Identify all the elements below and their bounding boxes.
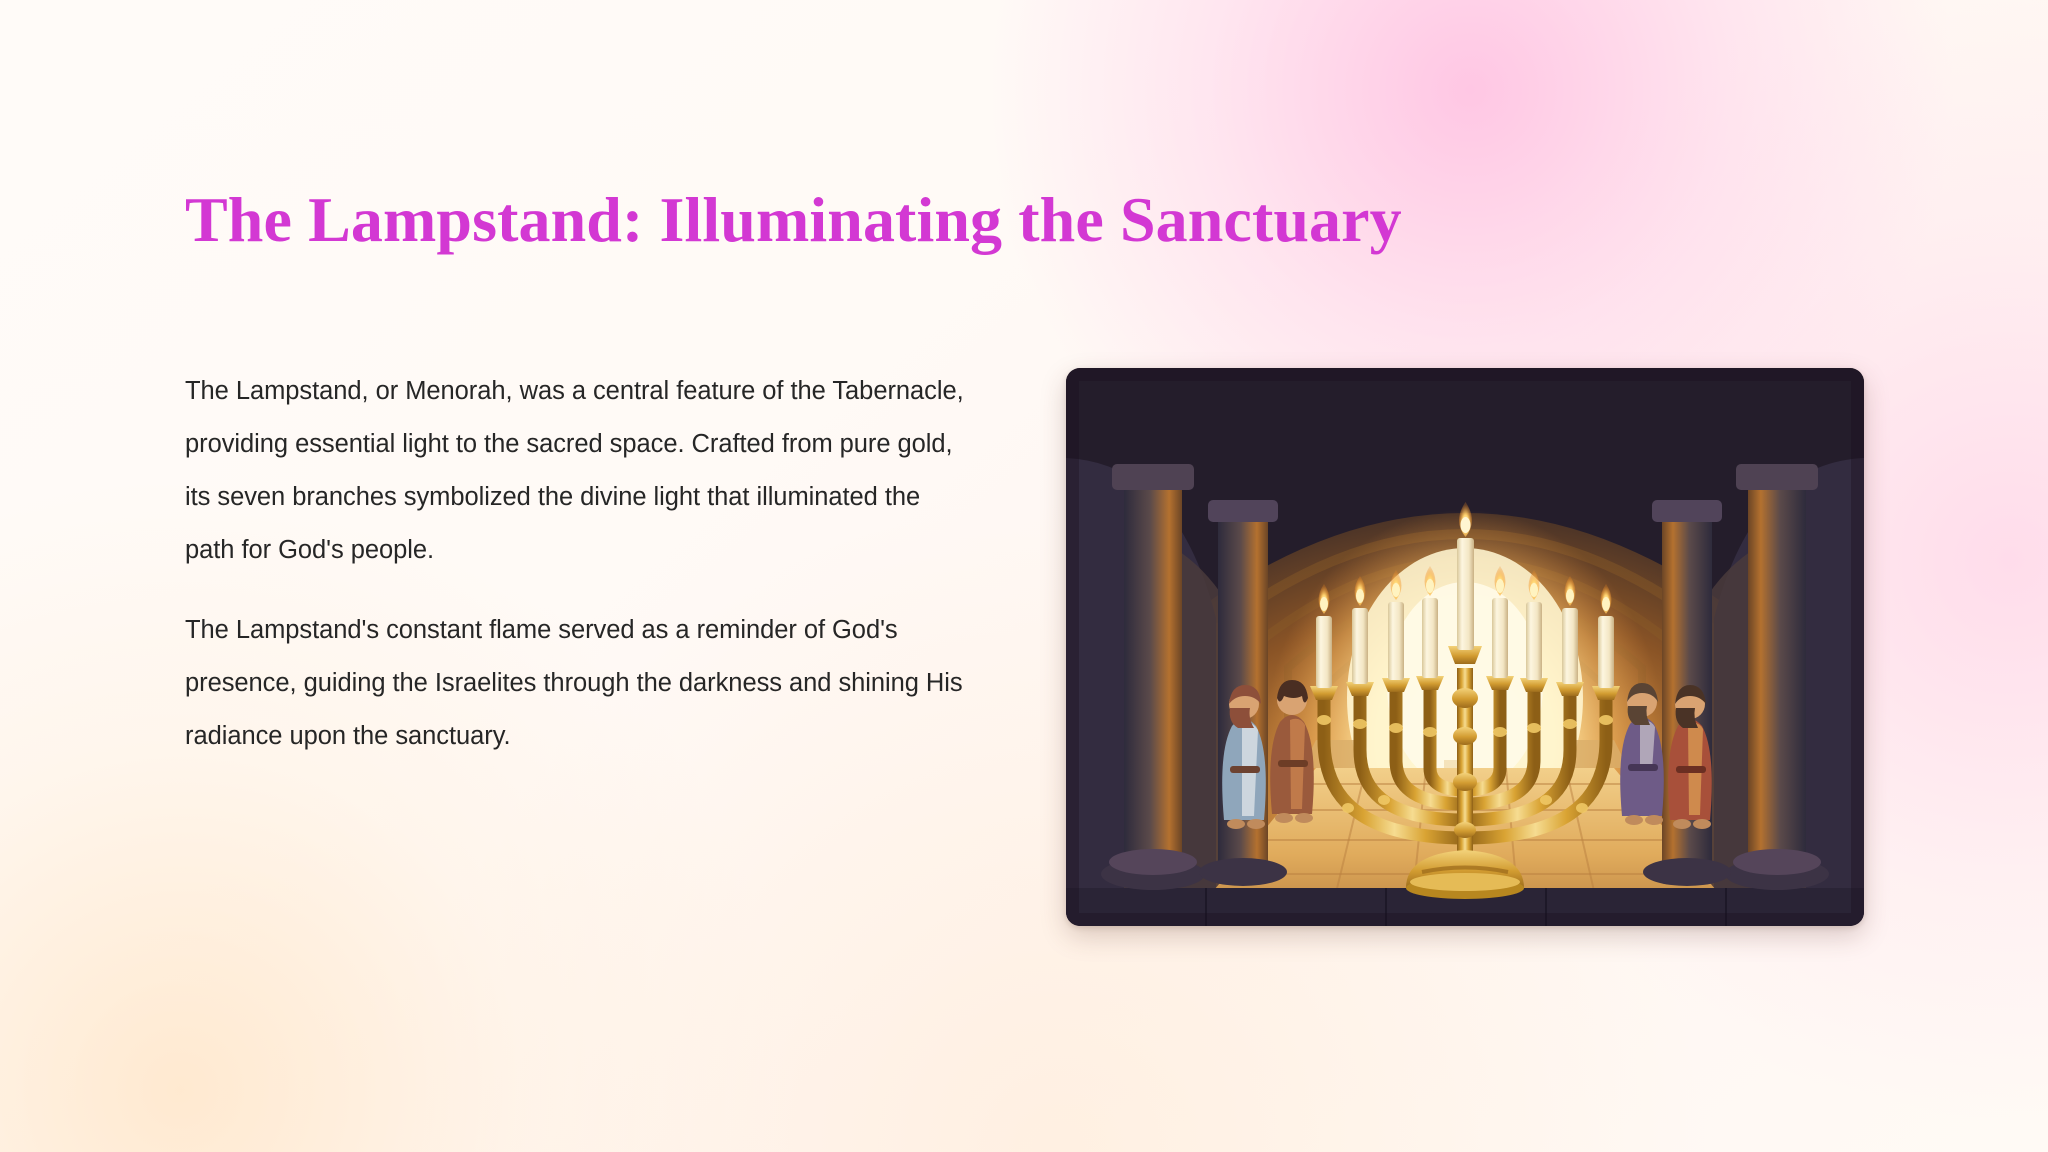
page-title: The Lampstand: Illuminating the Sanctuar… (185, 184, 1402, 256)
paragraph-2: The Lampstand's constant flame served as… (185, 604, 975, 763)
body-copy: The Lampstand, or Menorah, was a central… (185, 365, 975, 763)
illustration-artwork (1066, 368, 1864, 926)
menorah-in-tabernacle-illustration (1066, 368, 1864, 926)
slide-canvas: The Lampstand: Illuminating the Sanctuar… (0, 0, 2048, 1152)
paragraph-1: The Lampstand, or Menorah, was a central… (185, 365, 975, 577)
